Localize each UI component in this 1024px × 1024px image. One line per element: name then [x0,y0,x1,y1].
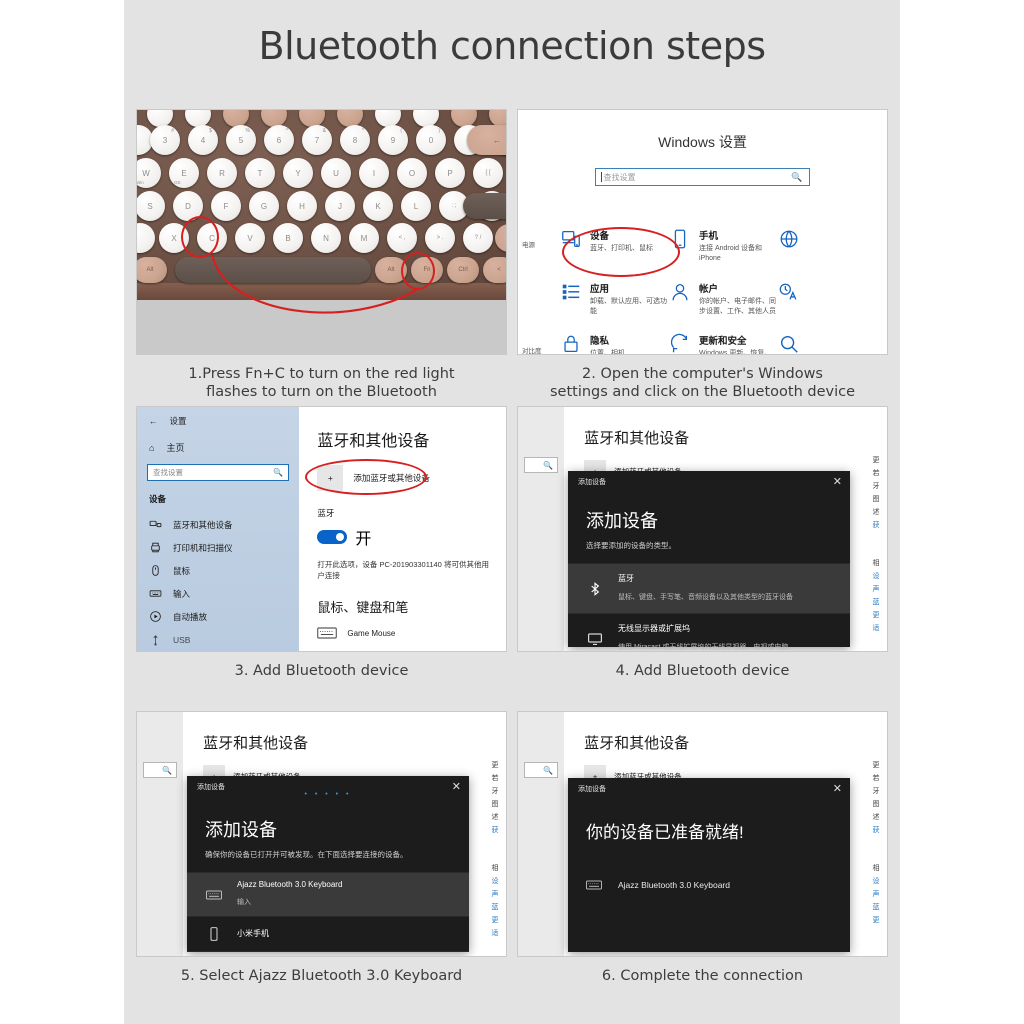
dialog-heading: 添加设备 [205,816,451,842]
tile-text: 帐户 你的帐户、电子邮件、同步设置、工作、其他人员 [699,281,778,317]
sidebar-search-input[interactable]: 🔍 [524,457,558,473]
related-link: 述 [491,812,498,822]
dialog-subtitle: 选择要添加的设备的类型。 [586,540,832,551]
keyboard-icon [317,626,337,640]
dialog-titlebar: 添加设备 ✕ [568,778,850,800]
related-link[interactable]: 设 [872,876,879,886]
tile-subtitle: 卸载、默认应用、可选功能 [590,297,669,317]
close-icon[interactable]: ✕ [833,477,842,488]
tile-text: 隐私 位置、相机 [590,333,625,355]
bluetooth-toggle[interactable] [317,530,347,544]
related-link[interactable]: 更 [491,915,498,925]
close-icon[interactable]: ✕ [452,782,461,793]
windows-settings-screen: Windows 设置 查找设置 🔍 电源 [518,132,887,355]
settings-sidebar-fragment: 🔍 [518,407,564,651]
add-device-dialog: 添加设备 ✕ 添加设备 选择要添加的设备的类型。 [568,471,850,647]
tile-text: 手机 连接 Android 设备和 iPhone [699,228,778,264]
bluetooth-note: 打开此选项，设备 PC-201903301140 将可供其他用户连接 [317,559,492,581]
settings-tile-update[interactable]: 更新和安全 Windows 更新、恢复、备份 [669,323,778,355]
step-6-caption: 6. Complete the connection [517,967,888,985]
sidebar-item-label: 打印机和扫描仪 [173,542,233,554]
monitor-icon [586,631,604,647]
search-icon[interactable]: 🔍 [162,766,172,775]
related-settings-column: 更 若 牙 图 述 获 相 设 声 蓝 更 适 [484,712,506,956]
step-5: 🔍 蓝牙和其他设备 + 添加蓝牙或其他设备 更 若 牙 图 述 获 [136,711,507,957]
related-link[interactable]: 更 [872,915,879,925]
device-name: 小米手机 [237,928,269,939]
step-4: 🔍 蓝牙和其他设备 + 添加蓝牙或其他设备 更 若 牙 图 述 获 [517,406,888,652]
tile-subtitle: 你的帐户、电子邮件、同步设置、工作、其他人员 [699,297,778,317]
related-link[interactable]: 适 [491,928,498,938]
page-heading: 蓝牙和其他设备 [317,427,492,451]
related-link[interactable]: 蓝 [491,902,498,912]
text-cursor [601,172,602,182]
settings-tile-search[interactable] [778,323,887,355]
related-settings-column: 更 若 牙 图 述 获 相 设 声 蓝 更 适 [865,407,887,651]
tile-text: 更新和安全 Windows 更新、恢复、备份 [699,333,778,355]
related-link[interactable]: 更 [872,610,879,620]
step-2-image: Windows 设置 查找设置 🔍 电源 [517,109,888,355]
close-icon[interactable]: ✕ [833,784,842,795]
device-text: 小米手机 [237,928,269,941]
step-3-caption: 3. Add Bluetooth device [136,662,507,680]
dialog-header: 添加设备 确保你的设备已打开并可被发现。在下面选择要连接的设备。 [187,798,469,872]
settings-tile-accounts[interactable]: 帐户 你的帐户、电子邮件、同步设置、工作、其他人员 [669,271,778,324]
step-1-caption: 1.Press Fn+C to turn on the red light fl… [136,365,507,401]
sidebar-item-label: USB [173,635,190,645]
settings-tile-phone[interactable]: 手机 连接 Android 设备和 iPhone [669,218,778,271]
sidebar-group-label: 设备 [137,493,299,513]
device-ready-dialog: 添加设备 ✕ 你的设备已准备就绪! Ajazz Bluetooth 3.0 Ke… [568,778,850,952]
language-icon [778,281,800,303]
phone-icon [205,926,223,942]
step-1-image: 3 # 4 $ 5 % 6 ^ 7 & [136,109,507,355]
option-desc: 使用 Miracast 或无线扩展坞的无线显视器、电视或电脑 [618,644,788,651]
progress-dots: • • • • • [304,791,351,798]
related-link[interactable]: 声 [491,889,498,899]
step-2-caption: 2. Open the computer's Windows settings … [517,365,888,401]
settings-tile-apps[interactable]: 应用 卸载、默认应用、可选功能 [560,271,669,324]
option-text: 蓝牙 鼠标、键盘、手写笔、音频设备以及其他类型的蓝牙设备 [618,573,793,604]
sidebar-search-input[interactable]: 查找设置 🔍 [147,464,289,481]
plus-icon: + [317,465,343,491]
related-link: 相 [872,863,879,873]
bluetooth-section-label: 蓝牙 [317,507,492,519]
settings-tile-grid: 电源 设备 蓝牙、打印机、鼠标 [518,218,887,355]
autoplay-icon [149,610,162,623]
page-heading: 蓝牙和其他设备 [203,732,484,753]
apps-icon [560,281,582,303]
mouse-icon [149,564,162,577]
settings-tile-devices[interactable]: 设备 蓝牙、打印机、鼠标 [560,218,669,271]
related-link: 若 [872,468,879,478]
related-link[interactable]: 声 [872,584,879,594]
tile-title: 更新和安全 [699,333,778,347]
connected-device-row: Ajazz Bluetooth 3.0 Keyboard [568,843,850,893]
discovered-device-pc[interactable]: PC-20190610EWHE 音频 [187,951,469,957]
dialog-titlebar-label: 添加设备 [578,784,606,794]
step-1: 3 # 4 $ 5 % 6 ^ 7 & [136,109,507,355]
back-arrow-icon: ← [149,416,158,426]
connected-device-name: Ajazz Bluetooth 3.0 Keyboard [618,880,730,890]
related-link: 更 [872,760,879,770]
sidebar-search-placeholder: 查找设置 [153,467,183,478]
step-5-caption: 5. Select Ajazz Bluetooth 3.0 Keyboard [136,967,507,985]
option-title: 蓝牙 [618,573,793,584]
keyboard-icon [586,877,604,893]
step-2: Windows 设置 查找设置 🔍 电源 [517,109,888,355]
device-name: Ajazz Bluetooth 3.0 Keyboard [237,880,342,889]
related-link[interactable]: 适 [872,623,879,633]
settings-tile-network[interactable] [778,218,887,271]
related-link: 图 [872,494,879,504]
keyboard-icon [149,587,162,600]
device-name: Game Mouse [347,629,395,638]
tile-title: 帐户 [699,281,778,295]
sidebar-item-bluetooth-and-other-devices[interactable]: 蓝牙和其他设备 [137,513,299,536]
step-3-image: ← 设置 ⌂ 主页 查找设置 🔍 设备 [136,406,507,652]
step-5-image: 🔍 蓝牙和其他设备 + 添加蓝牙或其他设备 更 若 牙 图 述 获 [136,711,507,957]
related-link[interactable]: 声 [872,889,879,899]
related-link: 更 [491,760,498,770]
settings-tile-privacy[interactable]: 隐私 位置、相机 [560,323,669,355]
cut-label-power: 电源 [518,239,560,249]
related-link[interactable]: 蓝 [872,902,879,912]
settings-window: ← 设置 ⌂ 主页 查找设置 🔍 设备 [137,407,506,651]
related-link[interactable]: 获 [872,520,879,530]
sidebar-item-home[interactable]: ⌂ 主页 [137,437,299,464]
windows-settings-title: Windows 设置 [518,132,887,152]
related-link: 若 [872,773,879,783]
search-icon [778,333,800,355]
settings-search-placeholder: 查找设置 [603,172,635,183]
search-icon[interactable]: 🔍 [543,461,553,470]
related-link: 述 [872,507,879,517]
tile-title: 隐私 [590,333,625,347]
related-link: 牙 [872,786,879,796]
bluetooth-icon [586,581,604,597]
step-6-image: 🔍 蓝牙和其他设备 + 添加蓝牙或其他设备 更 若 牙 图 述 获 [517,711,888,957]
page-heading: 蓝牙和其他设备 [584,732,865,753]
option-text: 无线显示器或扩展坞 使用 Miracast 或无线扩展坞的无线显视器、电视或电脑 [618,623,788,652]
device-kind: 输入 [237,899,251,906]
dialog-titlebar-label: 添加设备 [578,477,606,487]
related-link[interactable]: 蓝 [872,597,879,607]
step-4-caption: 4. Add Bluetooth device [517,662,888,680]
sidebar-item-label: 蓝牙和其他设备 [173,519,233,531]
settings-tile-language[interactable] [778,271,887,324]
sidebar-item-label: 鼠标 [173,565,190,577]
globe-icon [778,228,800,250]
tile-title: 手机 [699,228,778,242]
tile-text: 应用 卸载、默认应用、可选功能 [590,281,669,317]
bluetooth-toggle-row[interactable]: 开 [317,525,492,549]
account-icon [669,281,691,303]
dialog-titlebar-label: 添加设备 [197,782,225,792]
add-bluetooth-device-button[interactable]: + 添加蓝牙或其他设备 [317,465,492,491]
bluetooth-toggle-state: 开 [355,525,371,549]
settings-sidebar-fragment: 🔍 [137,712,183,956]
related-link: 述 [872,812,879,822]
related-link: 相 [491,863,498,873]
related-link: 图 [491,799,498,809]
option-title: 无线显示器或扩展坞 [618,623,788,634]
dialog-header: 你的设备已准备就绪! [568,800,850,843]
related-link: 牙 [491,786,498,796]
step-3: ← 设置 ⌂ 主页 查找设置 🔍 设备 [136,406,507,652]
select-device-screen: 🔍 蓝牙和其他设备 + 添加蓝牙或其他设备 更 若 牙 图 述 获 [137,712,506,956]
dialog-subtitle: 确保你的设备已打开并可被发现。在下面选择要连接的设备。 [205,849,451,860]
dialog-titlebar: 添加设备 ✕ [568,471,850,493]
add-device-dialog: 添加设备 ✕ • • • • • 添加设备 确保你的设备已打开并可被发现。在下面… [187,776,469,952]
keyboard-photo: 3 # 4 $ 5 % 6 ^ 7 & [137,110,506,354]
discovered-device-ajazz-keyboard[interactable]: Ajazz Bluetooth 3.0 Keyboard 输入 [187,872,469,916]
device-type-option-wireless-display[interactable]: 无线显示器或扩展坞 使用 Miracast 或无线扩展坞的无线显视器、电视或电脑 [568,613,850,652]
cut-label-contrast: 对比度 [518,345,560,355]
dialog-heading: 添加设备 [586,507,832,533]
tile-text: 设备 蓝牙、打印机、鼠标 [590,228,653,254]
devices-icon [560,228,582,250]
sidebar-search-input[interactable]: 🔍 [143,762,177,778]
lock-icon [560,333,582,355]
related-link[interactable]: 获 [872,825,879,835]
page-heading: 蓝牙和其他设备 [584,427,865,448]
related-link: 若 [491,773,498,783]
sidebar-item-typing[interactable]: 输入 [137,582,299,605]
tile-subtitle: 位置、相机 [590,349,625,355]
related-link[interactable]: 设 [872,571,879,581]
search-icon[interactable]: 🔍 [273,468,283,477]
settings-sidebar-fragment: 🔍 [518,712,564,956]
back-button[interactable]: ← 设置 [137,415,299,437]
option-desc: 鼠标、键盘、手写笔、音频设备以及其他类型的蓝牙设备 [618,594,793,601]
related-link: 相 [872,558,879,568]
phone-icon [669,228,691,250]
usb-icon [149,633,162,646]
related-link[interactable]: 获 [491,825,498,835]
dialog-heading: 你的设备已准备就绪! [586,818,832,843]
step-4-image: 🔍 蓝牙和其他设备 + 添加蓝牙或其他设备 更 若 牙 图 述 获 [517,406,888,652]
sidebar-search-input[interactable]: 🔍 [524,762,558,778]
tile-subtitle: Windows 更新、恢复、备份 [699,349,778,355]
related-link[interactable]: 设 [491,876,498,886]
related-link: 更 [872,455,879,465]
search-icon[interactable]: 🔍 [791,172,802,183]
device-type-option-bluetooth[interactable]: 蓝牙 鼠标、键盘、手写笔、音频设备以及其他类型的蓝牙设备 [568,563,850,613]
settings-sidebar: ← 设置 ⌂ 主页 查找设置 🔍 设备 [137,407,299,651]
related-link: 图 [872,799,879,809]
related-link: 牙 [872,481,879,491]
sidebar-item-autoplay[interactable]: 自动播放 [137,605,299,628]
sidebar-item-printers-and-scanners[interactable]: 打印机和扫描仪 [137,536,299,559]
settings-main-pane: 蓝牙和其他设备 + 添加蓝牙或其他设备 蓝牙 开 打开此选项，设备 PC-201… [299,407,506,651]
sidebar-item-usb[interactable]: USB [137,628,299,651]
keyboard-icon [205,887,223,903]
settings-search-input[interactable]: 查找设置 🔍 [595,168,809,186]
poster-root: Bluetooth connection steps [0,0,1024,1024]
sidebar-item-label: 输入 [173,588,190,600]
tile-subtitle: 连接 Android 设备和 iPhone [699,244,778,264]
tile-title: 应用 [590,281,669,295]
step-6: 🔍 蓝牙和其他设备 + 添加蓝牙或其他设备 更 若 牙 图 述 获 [517,711,888,957]
annotation-arc [137,110,506,354]
back-label: 设置 [170,415,187,427]
page-title: Bluetooth connection steps [124,24,900,68]
tile-title: 设备 [590,228,653,242]
sidebar-item-label: 主页 [166,441,184,454]
dialog-header: 添加设备 选择要添加的设备的类型。 [568,493,850,563]
discovered-device-mi-phone[interactable]: 小米手机 [187,916,469,951]
home-icon: ⌂ [149,443,154,453]
add-bluetooth-device-label: 添加蓝牙或其他设备 [353,472,430,484]
sidebar-item-label: 自动播放 [173,611,207,623]
devices-section-heading: 鼠标、键盘和笔 [317,597,492,616]
refresh-icon [669,333,691,355]
bluetooth-devices-icon [149,518,162,531]
dialog-titlebar: 添加设备 ✕ • • • • • [187,776,469,798]
sidebar-item-mouse[interactable]: 鼠标 [137,559,299,582]
related-settings-column: 更 若 牙 图 述 获 相 设 声 蓝 更 [865,712,887,956]
printer-icon [149,541,162,554]
device-list-item[interactable]: Game Mouse [317,626,492,640]
search-icon[interactable]: 🔍 [543,766,553,775]
add-device-type-screen: 🔍 蓝牙和其他设备 + 添加蓝牙或其他设备 更 若 牙 图 述 获 [518,407,887,651]
tile-subtitle: 蓝牙、打印机、鼠标 [590,244,653,254]
device-ready-screen: 🔍 蓝牙和其他设备 + 添加蓝牙或其他设备 更 若 牙 图 述 获 [518,712,887,956]
device-text: Ajazz Bluetooth 3.0 Keyboard 输入 [237,880,342,909]
